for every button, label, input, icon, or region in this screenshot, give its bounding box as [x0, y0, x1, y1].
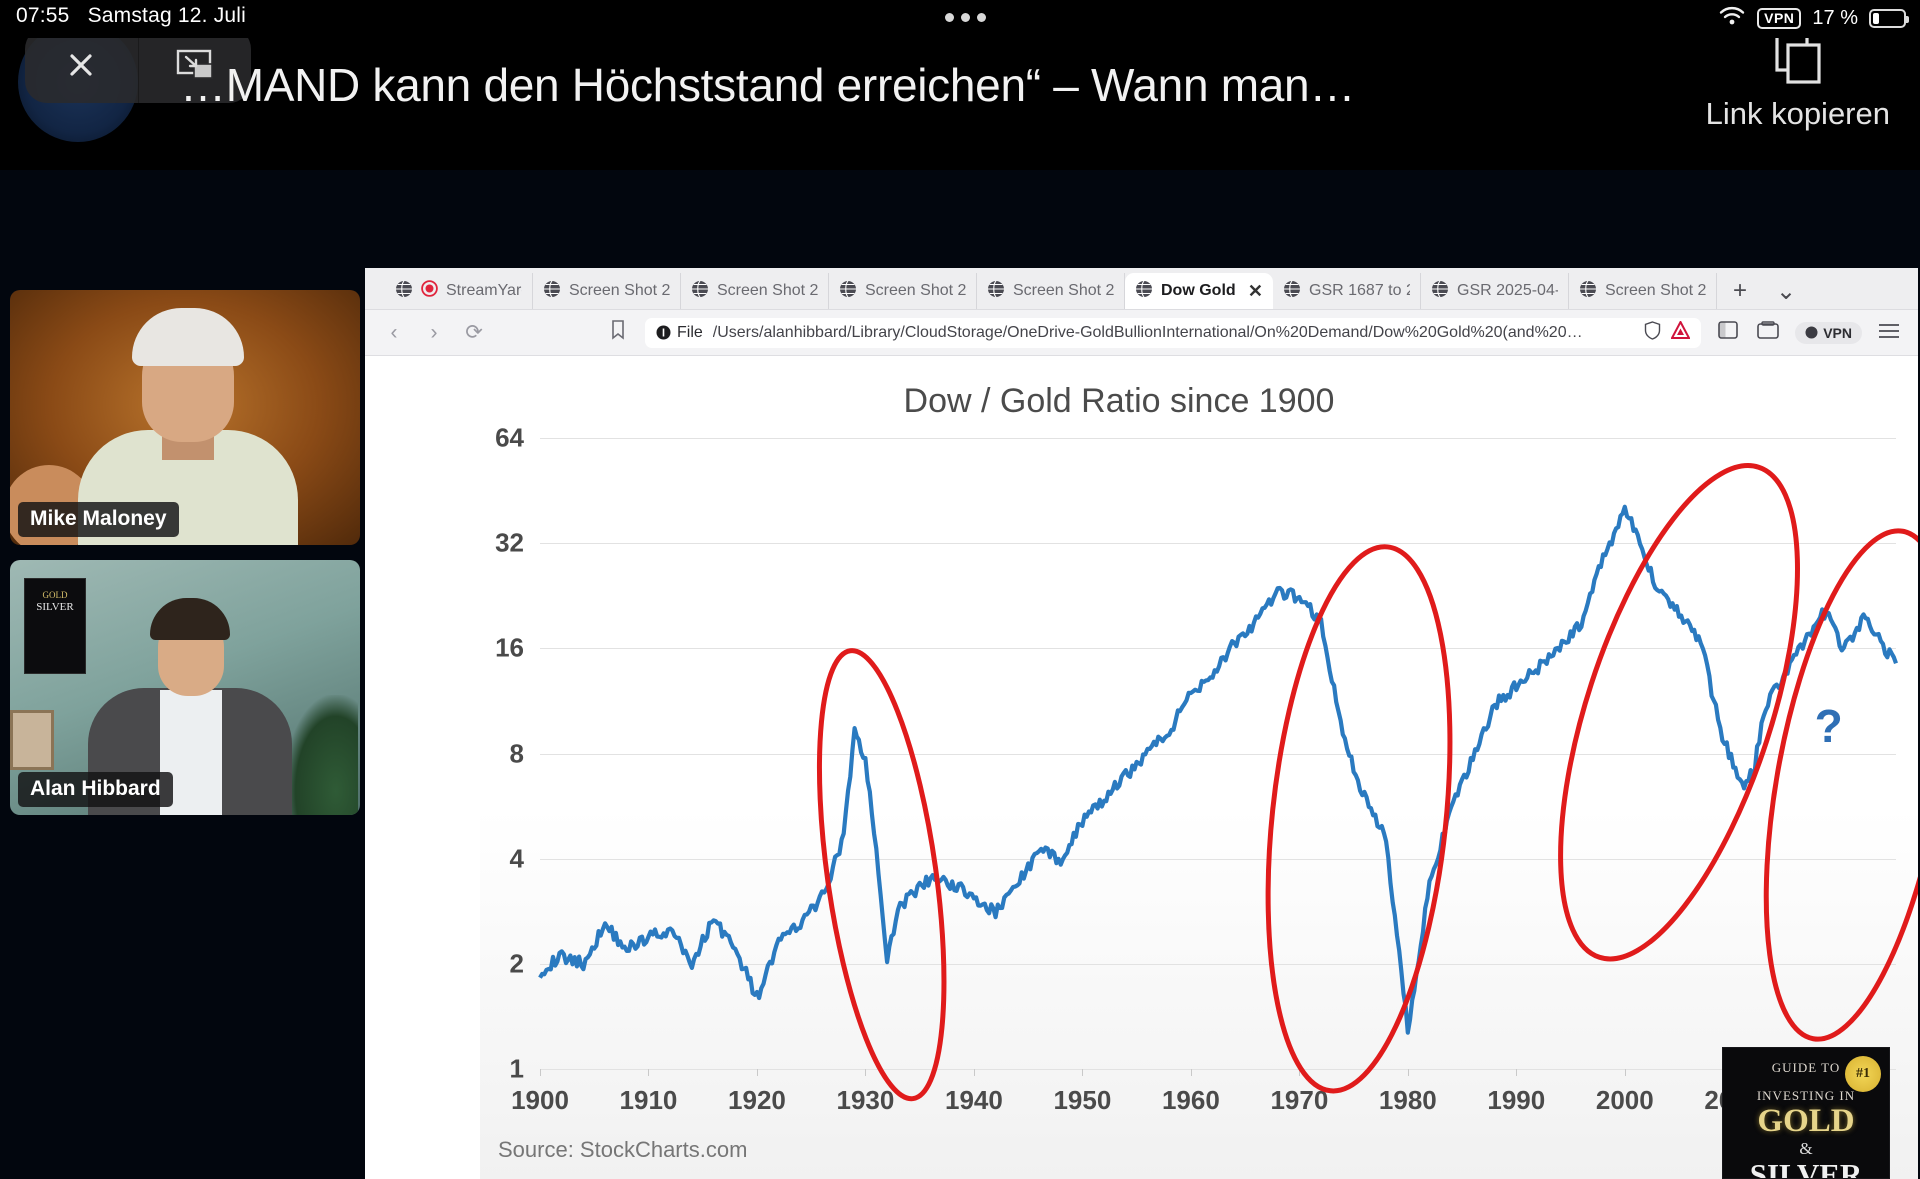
reload-button[interactable]: ⟳	[461, 320, 487, 345]
sidebar-toggle-icon[interactable]	[1715, 321, 1741, 345]
chart-source-note: Source: StockCharts.com	[498, 1137, 747, 1163]
participant-name-alan: Alan Hibbard	[18, 772, 173, 807]
x-axis-tick	[1191, 1069, 1192, 1076]
decor-picture-frame	[10, 710, 54, 770]
chart-annotation-ellipse	[1733, 517, 1918, 1053]
chart-annotation-ellipse	[1512, 439, 1847, 986]
status-vpn-badge: VPN	[1757, 8, 1801, 29]
browser-vpn-pill[interactable]: VPN	[1795, 322, 1862, 344]
status-date: Samstag 12. Juli	[88, 4, 246, 28]
x-axis-tick	[1408, 1069, 1409, 1076]
x-axis-label: 1960	[1162, 1085, 1220, 1116]
y-axis-label: 2	[510, 948, 524, 979]
tab-close-icon[interactable]: ✕	[1248, 281, 1263, 302]
x-axis-tick	[865, 1069, 866, 1076]
book-gold-text: GOLD	[25, 591, 85, 601]
x-axis-label: 1950	[1053, 1085, 1111, 1116]
x-axis-tick	[1625, 1069, 1626, 1076]
globe-icon	[543, 280, 561, 303]
tab-label: Screen Shot 20	[569, 282, 670, 300]
chart-plot-area: 1248163264190019101920193019401950196019…	[540, 438, 1896, 1069]
tab-label: GSR 1687 to 20	[1309, 282, 1410, 300]
status-time: 07:55	[16, 4, 70, 28]
browser-tab-5[interactable]: Dow Gold R✕	[1125, 273, 1273, 309]
book-ampersand: &	[1723, 1139, 1889, 1159]
url-text: /Users/alanhibbard/Library/CloudStorage/…	[713, 324, 1634, 342]
forward-button[interactable]: ›	[421, 321, 447, 345]
y-axis-label: 16	[495, 633, 524, 664]
globe-icon	[1283, 280, 1301, 303]
bestseller-badge: #1	[1845, 1056, 1881, 1092]
status-right-group: VPN 17 %	[1718, 5, 1906, 32]
chart-canvas: Dow / Gold Ratio since 1900 124816326419…	[480, 356, 1918, 1179]
vpn-dot-icon	[1805, 326, 1818, 339]
adobe-icon[interactable]	[1671, 321, 1690, 344]
x-axis-label: 1980	[1379, 1085, 1437, 1116]
x-axis-tick	[757, 1069, 758, 1076]
chart-annotation-ellipse	[797, 643, 967, 1106]
chart-question-mark-annotation: ?	[1815, 699, 1843, 753]
browser-tab-0[interactable]: StreamYard	[385, 273, 533, 309]
chart-gridline	[540, 1069, 1896, 1070]
decor-plant	[284, 695, 358, 815]
battery-icon	[1869, 9, 1906, 28]
tab-label: Dow Gold R	[1161, 282, 1240, 300]
chart-annotation-ellipse	[1244, 538, 1474, 1100]
status-left-group: 07:55 Samstag 12. Juli	[16, 4, 246, 28]
x-axis-tick	[540, 1069, 541, 1076]
browser-toolbar: ‹ › ⟳ File /Users/alanhibbard/Library/Cl…	[365, 310, 1918, 356]
x-axis-tick	[974, 1069, 975, 1076]
x-axis-label: 1910	[620, 1085, 678, 1116]
status-battery-percent: 17 %	[1812, 7, 1858, 30]
globe-icon	[691, 280, 709, 303]
book-silver-text: SILVER	[25, 601, 85, 613]
y-axis-label: 4	[510, 843, 524, 874]
browser-tab-2[interactable]: Screen Shot 20	[681, 273, 829, 309]
address-bar[interactable]: File /Users/alanhibbard/Library/CloudSto…	[645, 318, 1701, 348]
tab-label: StreamYard	[446, 282, 522, 300]
browser-tab-8[interactable]: Screen Shot 20	[1569, 273, 1717, 309]
book-cover-overlay: GUIDE TO INVESTING IN GOLD & SILVER PROT…	[1722, 1047, 1890, 1179]
x-axis-tick	[1082, 1069, 1083, 1076]
browser-tabstrip: StreamYardScreen Shot 20Screen Shot 20Sc…	[365, 268, 1918, 310]
y-axis-label: 32	[495, 528, 524, 559]
tab-overview-icon[interactable]	[1755, 321, 1781, 345]
new-tab-button[interactable]: +	[1717, 273, 1763, 309]
close-icon	[61, 45, 101, 85]
x-axis-label: 1990	[1487, 1085, 1545, 1116]
browser-tab-7[interactable]: GSR 2025-04-3	[1421, 273, 1569, 309]
shared-browser-window: StreamYardScreen Shot 20Screen Shot 20Sc…	[365, 268, 1918, 1179]
tab-label: Screen Shot 20	[1013, 282, 1114, 300]
x-axis-label: 1900	[511, 1085, 569, 1116]
x-axis-label: 2000	[1596, 1085, 1654, 1116]
file-scheme-chip: File	[656, 324, 703, 342]
x-axis-label: 1930	[837, 1085, 895, 1116]
vpn-pill-label: VPN	[1823, 325, 1852, 341]
recording-indicator-icon	[421, 280, 438, 302]
browser-tab-3[interactable]: Screen Shot 20	[829, 273, 977, 309]
more-dots-icon	[945, 13, 986, 22]
y-axis-label: 64	[495, 423, 524, 454]
book-gold: GOLD	[1723, 1104, 1889, 1139]
tab-label: GSR 2025-04-3	[1457, 282, 1558, 300]
x-axis-tick	[1516, 1069, 1517, 1076]
participant-name-mike: Mike Maloney	[18, 502, 179, 537]
back-button[interactable]: ‹	[381, 321, 407, 345]
browser-tab-6[interactable]: GSR 1687 to 20	[1273, 273, 1421, 309]
y-axis-label: 1	[510, 1054, 524, 1085]
system-status-bar: 07:55 Samstag 12. Juli VPN 17 %	[0, 0, 1920, 38]
y-axis-label: 8	[510, 738, 524, 769]
copy-link-button[interactable]: Link kopieren	[1706, 30, 1890, 132]
close-button[interactable]	[25, 27, 138, 103]
browser-tab-1[interactable]: Screen Shot 20	[533, 273, 681, 309]
file-label: File	[677, 324, 703, 342]
video-title: …MAND kann den Höchststand erreichen“ – …	[180, 58, 1360, 112]
globe-icon	[839, 280, 857, 303]
tab-label: Screen Shot 20	[1605, 282, 1706, 300]
wifi-icon	[1718, 5, 1746, 32]
shield-icon[interactable]	[1644, 321, 1661, 345]
tab-label: Screen Shot 20	[717, 282, 818, 300]
globe-icon	[987, 280, 1005, 303]
globe-icon	[1431, 280, 1449, 303]
tab-label: Screen Shot 20	[865, 282, 966, 300]
browser-tab-4[interactable]: Screen Shot 20	[977, 273, 1125, 309]
tab-list-chevron-down-icon[interactable]: ⌄	[1763, 273, 1809, 309]
info-icon	[656, 325, 671, 340]
participant-tile-alan[interactable]: GOLD SILVER Alan Hibbard	[10, 560, 360, 815]
book-silver: SILVER	[1723, 1159, 1889, 1179]
chart-series-svg	[540, 438, 1896, 1069]
bookmark-icon[interactable]	[605, 320, 631, 346]
participant-tile-mike[interactable]: Mike Maloney	[10, 290, 360, 545]
x-axis-label: 1940	[945, 1085, 1003, 1116]
chart-line-dow-gold-ratio	[540, 507, 1896, 1033]
streamyard-icon	[395, 280, 413, 303]
globe-icon	[1579, 280, 1597, 303]
hamburger-menu-icon[interactable]	[1876, 321, 1902, 345]
chart-container: Dow / Gold Ratio since 1900 124816326419…	[365, 356, 1918, 1179]
decor-book-shelf: GOLD SILVER	[24, 578, 86, 674]
chart-title: Dow / Gold Ratio since 1900	[480, 382, 1758, 421]
globe-icon	[1135, 280, 1153, 303]
x-axis-label: 1920	[728, 1085, 786, 1116]
x-axis-tick	[648, 1069, 649, 1076]
copy-icon	[1772, 30, 1824, 86]
copy-link-label: Link kopieren	[1706, 96, 1890, 132]
